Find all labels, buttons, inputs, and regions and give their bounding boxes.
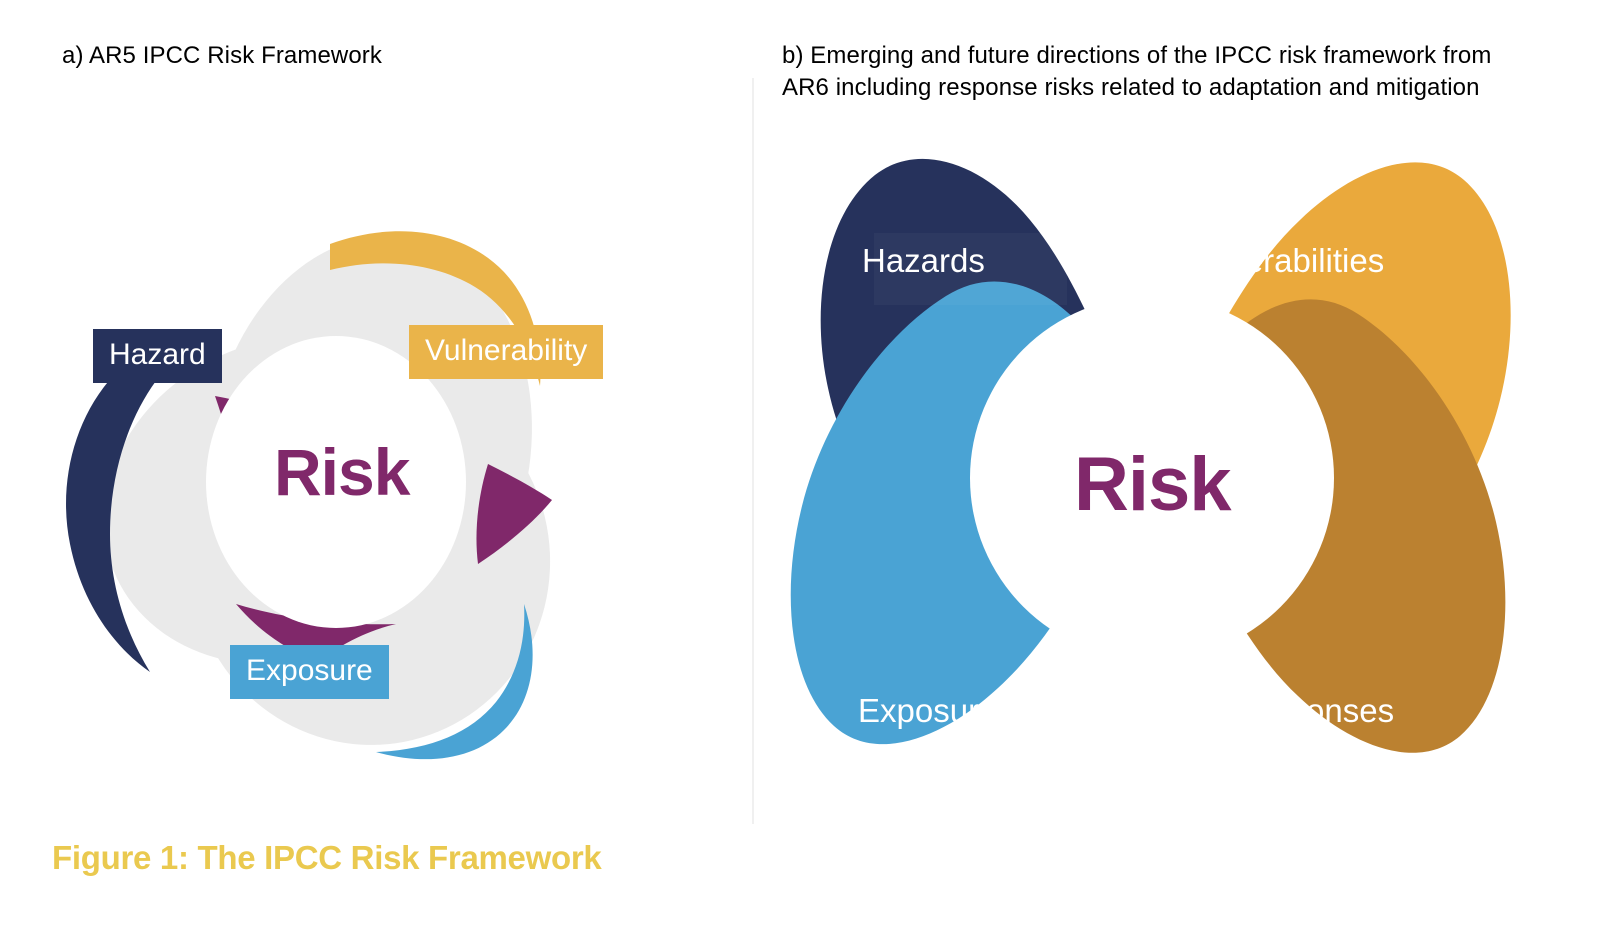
- petal-label-responses: Responses: [1229, 694, 1394, 727]
- figure-caption: Figure 1: The IPCC Risk Framework: [52, 838, 601, 878]
- panel-b-risk-label: Risk: [1074, 447, 1231, 523]
- panel-b-title: b) Emerging and future directions of the…: [782, 40, 1522, 104]
- petal-label-hazards: Hazards: [862, 244, 985, 277]
- chip-vulnerability: Vulnerability: [409, 325, 603, 379]
- panel-divider: [752, 78, 754, 824]
- chip-hazard: Hazard: [93, 329, 222, 383]
- petal-label-vulnerabilities: Vulnerabilities: [1180, 244, 1384, 277]
- petal-label-exposures: Exposures: [858, 694, 1014, 727]
- chip-exposure: Exposure: [230, 645, 389, 699]
- panel-a-title: a) AR5 IPCC Risk Framework: [62, 40, 682, 72]
- figure-root: a) AR5 IPCC Risk Framework b) Emerging a…: [0, 0, 1608, 938]
- panel-a-risk-label: Risk: [274, 439, 409, 505]
